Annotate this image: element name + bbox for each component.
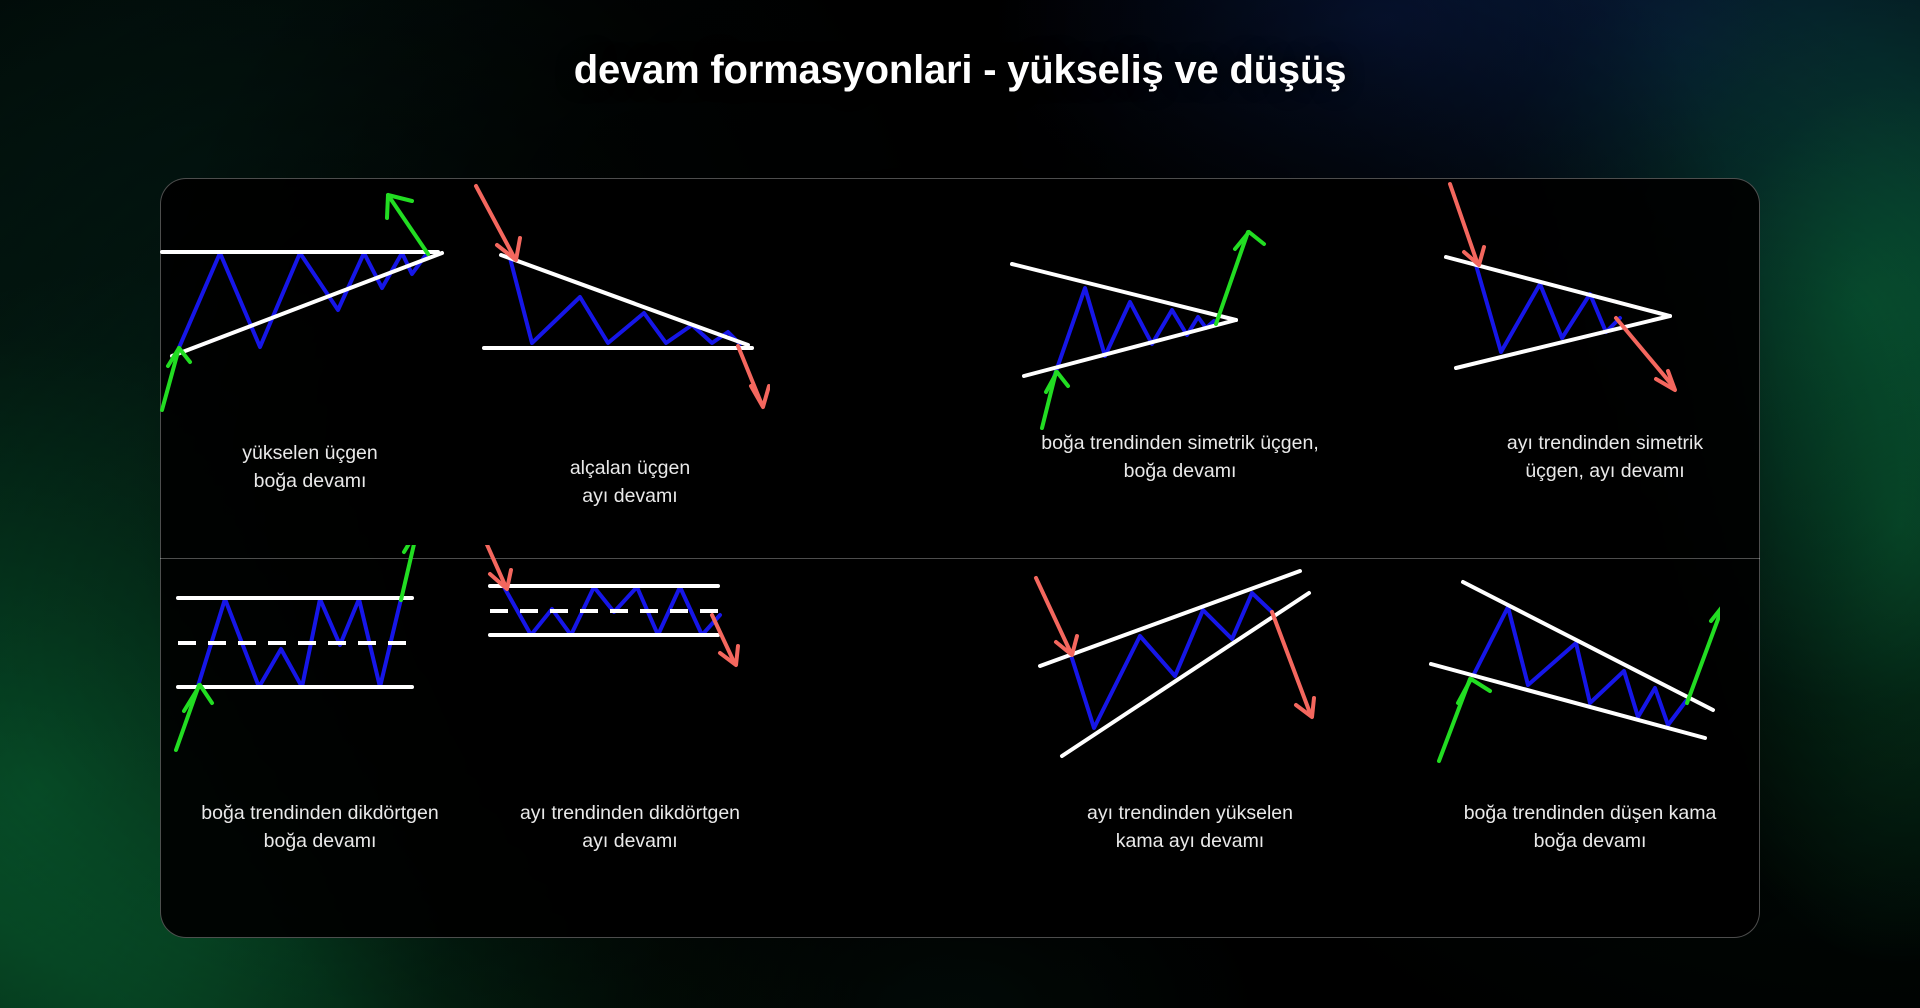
pattern-ascending-triangle[interactable]	[150, 170, 450, 430]
bear-exit-arrow	[738, 346, 769, 407]
bull-entry-arrow	[162, 348, 190, 410]
bull-entry-arrow	[176, 685, 212, 750]
bear-entry-arrow	[1036, 578, 1077, 655]
price-action-line	[1070, 593, 1272, 728]
caption-line-2: ayı devamı	[450, 828, 810, 856]
bear-exit-arrow	[1272, 612, 1314, 717]
price-action-line	[1474, 607, 1686, 725]
caption-line-1: alçalan üçgen	[450, 455, 810, 483]
pattern-rectangle-bull[interactable]	[150, 545, 450, 805]
caption-line-1: boğa trendinden düşen kama	[1390, 800, 1790, 828]
caption-symmetrical-triangle-bear: ayı trendinden simetrik üçgen, ayı devam…	[1425, 430, 1785, 485]
caption-line-2: kama ayı devamı	[1000, 828, 1380, 856]
caption-line-2: boğa devamı	[130, 468, 490, 496]
caption-line-1: boğa trendinden simetrik üçgen,	[985, 430, 1375, 458]
pattern-symmetrical-triangle-bull[interactable]	[1000, 180, 1300, 430]
bull-entry-arrow	[1439, 679, 1490, 761]
caption-line-1: yükselen üçgen	[130, 440, 490, 468]
caption-line-2: üçgen, ayı devamı	[1425, 458, 1785, 486]
caption-line-1: ayı trendinden dikdörtgen	[450, 800, 810, 828]
pattern-symmetrical-triangle-bear[interactable]	[1420, 170, 1720, 420]
caption-descending-triangle: alçalan üçgen ayı devamı	[450, 455, 810, 510]
channel-resistance	[1040, 571, 1300, 666]
bull-exit-arrow	[1687, 602, 1720, 703]
price-action-line	[1476, 265, 1620, 352]
caption-symmetrical-triangle-bull: boğa trendinden simetrik üçgen, boğa dev…	[985, 430, 1375, 485]
bear-exit-arrow	[712, 615, 738, 665]
bear-entry-arrow	[476, 545, 511, 589]
bull-entry-arrow	[1042, 372, 1068, 428]
pattern-rectangle-bear[interactable]	[470, 545, 770, 805]
caption-ascending-triangle: yükselen üçgen boğa devamı	[130, 440, 490, 495]
pattern-rising-wedge-bear[interactable]	[1020, 550, 1340, 800]
pattern-descending-triangle[interactable]	[470, 170, 770, 430]
bear-exit-arrow	[1616, 318, 1675, 390]
caption-rising-wedge-bear: ayı trendinden yükselen kama ayı devamı	[1000, 800, 1380, 855]
price-action-line	[178, 252, 428, 350]
caption-line-2: ayı devamı	[450, 483, 810, 511]
caption-line-2: boğa devamı	[985, 458, 1375, 486]
patterns-grid: yükselen üçgen boğa devamı alçala	[0, 0, 1920, 1008]
bull-exit-arrow	[387, 195, 428, 254]
pattern-falling-wedge-bull[interactable]	[1400, 555, 1720, 805]
bull-exit-arrow	[401, 545, 435, 600]
caption-line-2: boğa devamı	[1390, 828, 1790, 856]
caption-line-1: ayı trendinden simetrik	[1425, 430, 1785, 458]
bull-exit-arrow	[1216, 232, 1264, 324]
caption-falling-wedge-bull: boğa trendinden düşen kama boğa devamı	[1390, 800, 1790, 855]
bear-entry-arrow	[476, 186, 520, 260]
channel-support	[1431, 664, 1705, 738]
bear-entry-arrow	[1450, 184, 1484, 265]
trendline-support	[1024, 320, 1236, 376]
caption-line-1: ayı trendinden yükselen	[1000, 800, 1380, 828]
caption-rectangle-bear: ayı trendinden dikdörtgen ayı devamı	[450, 800, 810, 855]
